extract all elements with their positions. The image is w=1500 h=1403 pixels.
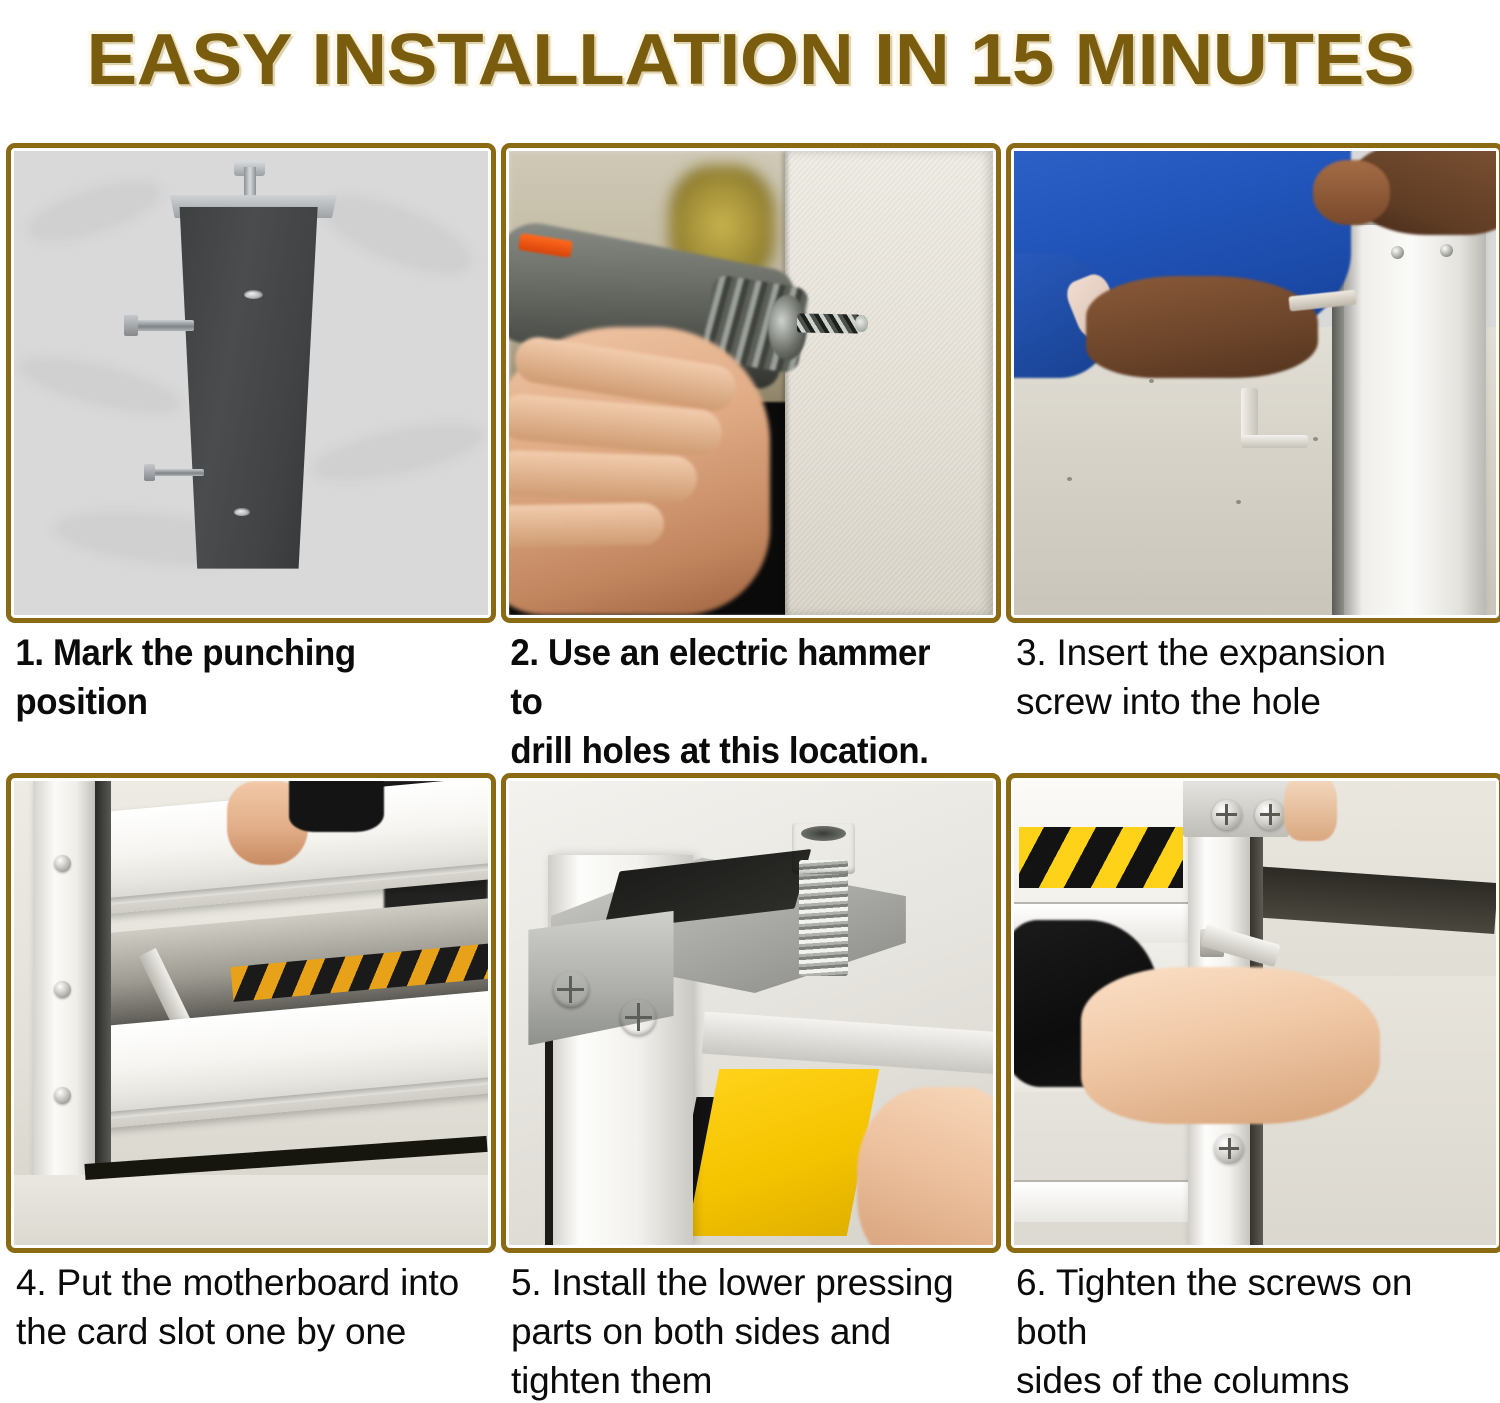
post-screw <box>1212 800 1242 830</box>
marking-hole <box>234 508 249 515</box>
hand <box>857 1087 993 1245</box>
step-5-caption: 5. Install the lower pressing parts on b… <box>501 1253 1001 1398</box>
cloth-wrinkle <box>20 167 170 255</box>
step-6-photo-frame <box>1006 773 1500 1253</box>
step-3-caption-line-2: screw into the hole <box>1016 678 1490 727</box>
step-4-caption-line-1: 4. Put the motherboard into <box>16 1259 482 1308</box>
phillips-screw <box>553 971 589 1007</box>
step-4-photo-cell <box>6 773 496 1253</box>
step-5-photo <box>509 781 993 1245</box>
post-screw <box>54 981 71 998</box>
column-shadow-edge <box>95 781 112 1180</box>
masonry-drill-bit <box>797 314 860 335</box>
side-bolt <box>147 469 204 476</box>
step-3-caption: 3. Insert the expansion screw into the h… <box>1006 623 1500 773</box>
step-3-caption-line-1: 3. Insert the expansion <box>1016 629 1490 678</box>
black-sleeve <box>289 781 384 832</box>
step-6-photo <box>1014 781 1496 1245</box>
step-2-photo-cell <box>501 143 1001 623</box>
barrier-board <box>1014 1180 1216 1222</box>
step-5-photo-frame <box>501 773 1001 1253</box>
aluminium-column <box>1342 179 1487 615</box>
side-bolt <box>128 320 194 330</box>
step-2-caption-line-2: drill holes at this location. <box>510 727 957 776</box>
cloth-wrinkle <box>305 411 488 494</box>
step-4-caption: 4. Put the motherboard into the card slo… <box>6 1253 496 1398</box>
thumb <box>1284 781 1337 841</box>
step-4-photo <box>14 781 488 1245</box>
step-2-caption: 2. Use an electric hammer to drill holes… <box>501 623 971 773</box>
step-6-photo-cell <box>1006 773 1500 1253</box>
floor <box>14 1175 488 1245</box>
step-4-caption-line-2: the card slot one by one <box>16 1308 482 1357</box>
cloth-wrinkle <box>313 179 483 291</box>
finger <box>509 502 664 547</box>
clamp-bolt-shaft <box>799 860 847 976</box>
page-title: EASY INSTALLATION IN 15 MINUTES <box>86 24 1414 96</box>
worker-right-hand <box>1313 160 1390 225</box>
step-3-photo-cell <box>1006 143 1500 623</box>
step-5-caption-line-1: 5. Install the lower pressing <box>511 1259 987 1308</box>
step-1-photo <box>14 151 488 615</box>
step-6-caption: 6. Tighten the screws on both sides of t… <box>1006 1253 1500 1398</box>
step-3-photo-frame <box>1006 143 1500 623</box>
hazard-yellow-band <box>686 1069 878 1236</box>
step-2-photo <box>509 151 993 615</box>
step-3-photo <box>1014 151 1496 615</box>
worker-left-hand <box>1086 276 1317 378</box>
installation-guide-sheet: EASY INSTALLATION IN 15 MINUTES <box>0 0 1500 1403</box>
threaded-stud <box>244 167 256 199</box>
post-screw <box>1255 800 1285 830</box>
clamp-bolt-head <box>792 823 855 874</box>
column-screw <box>1440 244 1453 257</box>
step-1-photo-cell <box>6 143 496 623</box>
step-5-caption-line-3: tighten them <box>511 1357 987 1403</box>
hazard-stripe <box>1019 827 1183 887</box>
finger <box>509 449 698 502</box>
step-1-caption: 1. Mark the punching position <box>6 623 467 773</box>
step-4-photo-frame <box>6 773 496 1253</box>
cloth-wrinkle <box>14 344 187 426</box>
step-6-caption-line-1: 6. Tighten the screws on both <box>1016 1259 1490 1357</box>
step-6-caption-line-2: sides of the columns <box>1016 1357 1490 1403</box>
step-5-caption-line-2: parts on both sides and <box>511 1308 987 1357</box>
headline-banner: EASY INSTALLATION IN 15 MINUTES <box>0 0 1500 120</box>
hand <box>1081 967 1380 1125</box>
step-2-photo-frame <box>501 143 1001 623</box>
textured-wall <box>785 151 993 615</box>
post-screw <box>1214 1134 1244 1164</box>
step-5-photo-cell <box>501 773 1001 1253</box>
step-2-caption-line-1: 2. Use an electric hammer to <box>510 629 957 727</box>
allen-key <box>1241 388 1308 448</box>
steps-grid: 1. Mark the punching position 2. Use an … <box>6 143 1496 1398</box>
step-1-photo-frame <box>6 143 496 623</box>
drill-bit-tip <box>855 315 868 332</box>
